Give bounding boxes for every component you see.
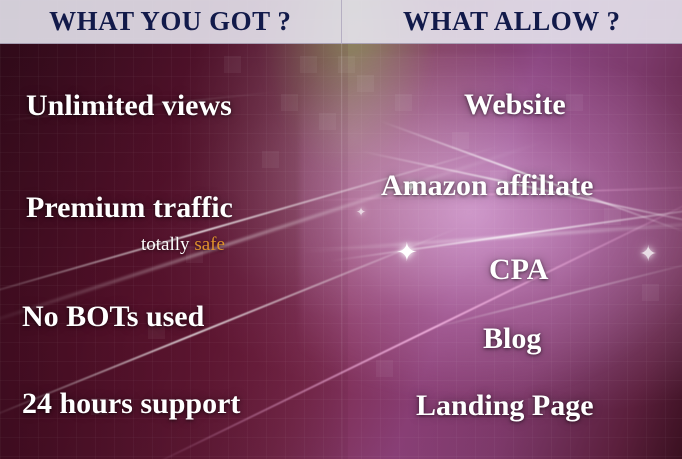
right-item-landing-page: Landing Page	[416, 389, 594, 423]
left-item-premium-traffic-note: totally safe	[141, 234, 225, 256]
note-prefix: totally	[141, 234, 194, 255]
left-item-24-hours-support: 24 hours support	[22, 387, 240, 421]
promo-graphic: ✦ ✦ ✦ ✦ WHAT YOU GOT ? WHAT ALLOW ? Unli…	[0, 0, 682, 459]
right-column: Website Amazon affiliate CPA Blog Landin…	[341, 44, 682, 459]
header-right-title: WHAT ALLOW ?	[403, 6, 621, 37]
header-left-title: WHAT YOU GOT ?	[49, 6, 291, 37]
right-item-amazon-affiliate: Amazon affiliate	[381, 169, 593, 203]
header-left-cell: WHAT YOU GOT ?	[0, 0, 342, 44]
left-item-no-bots-used: No BOTs used	[22, 300, 204, 334]
header-right-cell: WHAT ALLOW ?	[342, 0, 682, 44]
column-divider	[341, 0, 342, 459]
left-item-premium-traffic: Premium traffic	[26, 191, 233, 225]
right-item-blog: Blog	[483, 322, 541, 356]
left-item-unlimited-views: Unlimited views	[26, 89, 232, 123]
left-column: Unlimited views Premium traffic totally …	[0, 44, 341, 459]
note-highlight: safe	[194, 234, 225, 255]
right-item-cpa: CPA	[489, 253, 548, 287]
header-bar: WHAT YOU GOT ? WHAT ALLOW ?	[0, 0, 682, 44]
right-item-website: Website	[464, 88, 566, 122]
